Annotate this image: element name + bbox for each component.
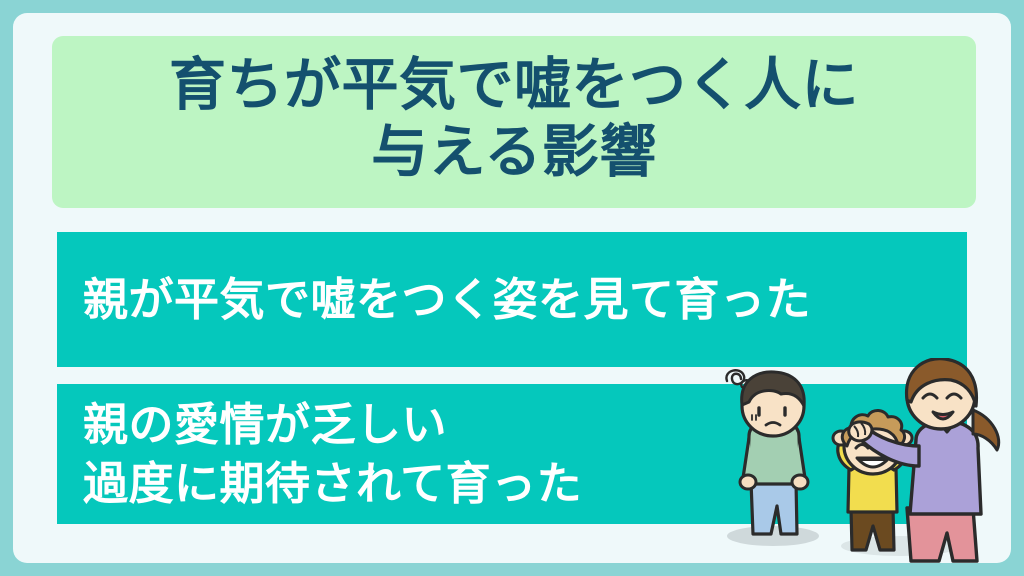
title-line-2: 与える影響 [371, 119, 657, 186]
slide-root: 育ちが平気で嘘をつく人に 与える影響 親が平気で嘘をつく姿を見て育った 親の愛情… [0, 0, 1024, 576]
statement-bar-1-line-1: 親が平気で嘘をつく姿を見て育った [83, 270, 811, 329]
statement-bar-2-line-1: 親の愛情が乏しい [83, 395, 447, 454]
statement-bar-2: 親の愛情が乏しい 過度に期待されて育った [57, 384, 967, 524]
title-box: 育ちが平気で嘘をつく人に 与える影響 [52, 36, 976, 208]
statement-bar-2-line-2: 過度に期待されて育った [83, 454, 582, 513]
mother-ponytail [973, 410, 999, 450]
slide-panel: 育ちが平気で嘘をつく人に 与える影響 親が平気で嘘をつく姿を見て育った 親の愛情… [13, 13, 1011, 563]
title-line-1: 育ちが平気で嘘をつく人に [169, 52, 859, 119]
statement-bar-1: 親が平気で嘘をつく姿を見て育った [57, 232, 967, 367]
shadow-group [841, 536, 961, 556]
shadow-sad-boy [727, 526, 819, 546]
